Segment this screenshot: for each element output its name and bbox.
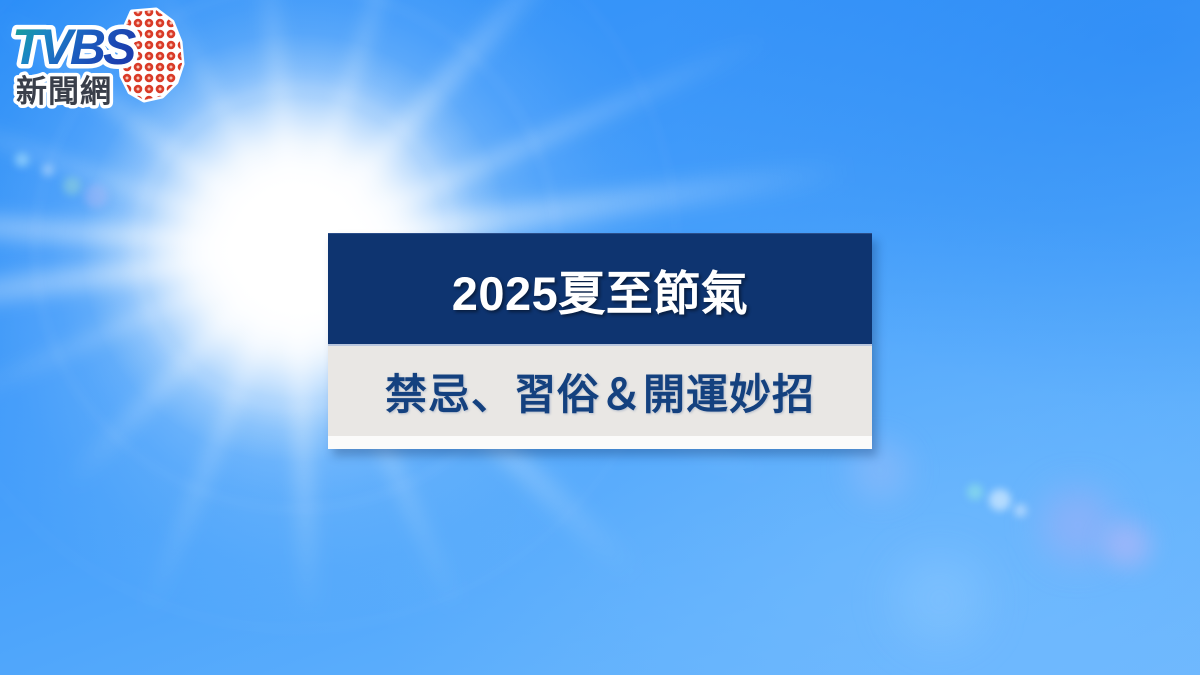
tvbs-wordmark: TVBS TVBS [12, 19, 136, 75]
graphic-canvas: TVBS TVBS 新聞網 新聞網 2025夏至節氣 禁忌、習俗＆開運妙招 [0, 0, 1200, 675]
tvbs-logo-svg: TVBS TVBS 新聞網 新聞網 [6, 6, 196, 111]
subheadline-panel: 禁忌、習俗＆開運妙招 [328, 344, 872, 436]
tvbs-news-logo[interactable]: TVBS TVBS 新聞網 新聞網 [6, 6, 196, 111]
tvbs-logo-subtitle: 新聞網 新聞網 [16, 74, 112, 109]
subheadline-text: 禁忌、習俗＆開運妙招 [385, 361, 815, 422]
svg-text:TVBS: TVBS [12, 19, 136, 75]
title-card: 2025夏至節氣 禁忌、習俗＆開運妙招 [328, 233, 872, 449]
card-footer-strip [328, 436, 872, 449]
svg-text:新聞網: 新聞網 [16, 74, 112, 109]
headline-text: 2025夏至節氣 [452, 255, 749, 324]
headline-panel: 2025夏至節氣 [328, 233, 872, 344]
